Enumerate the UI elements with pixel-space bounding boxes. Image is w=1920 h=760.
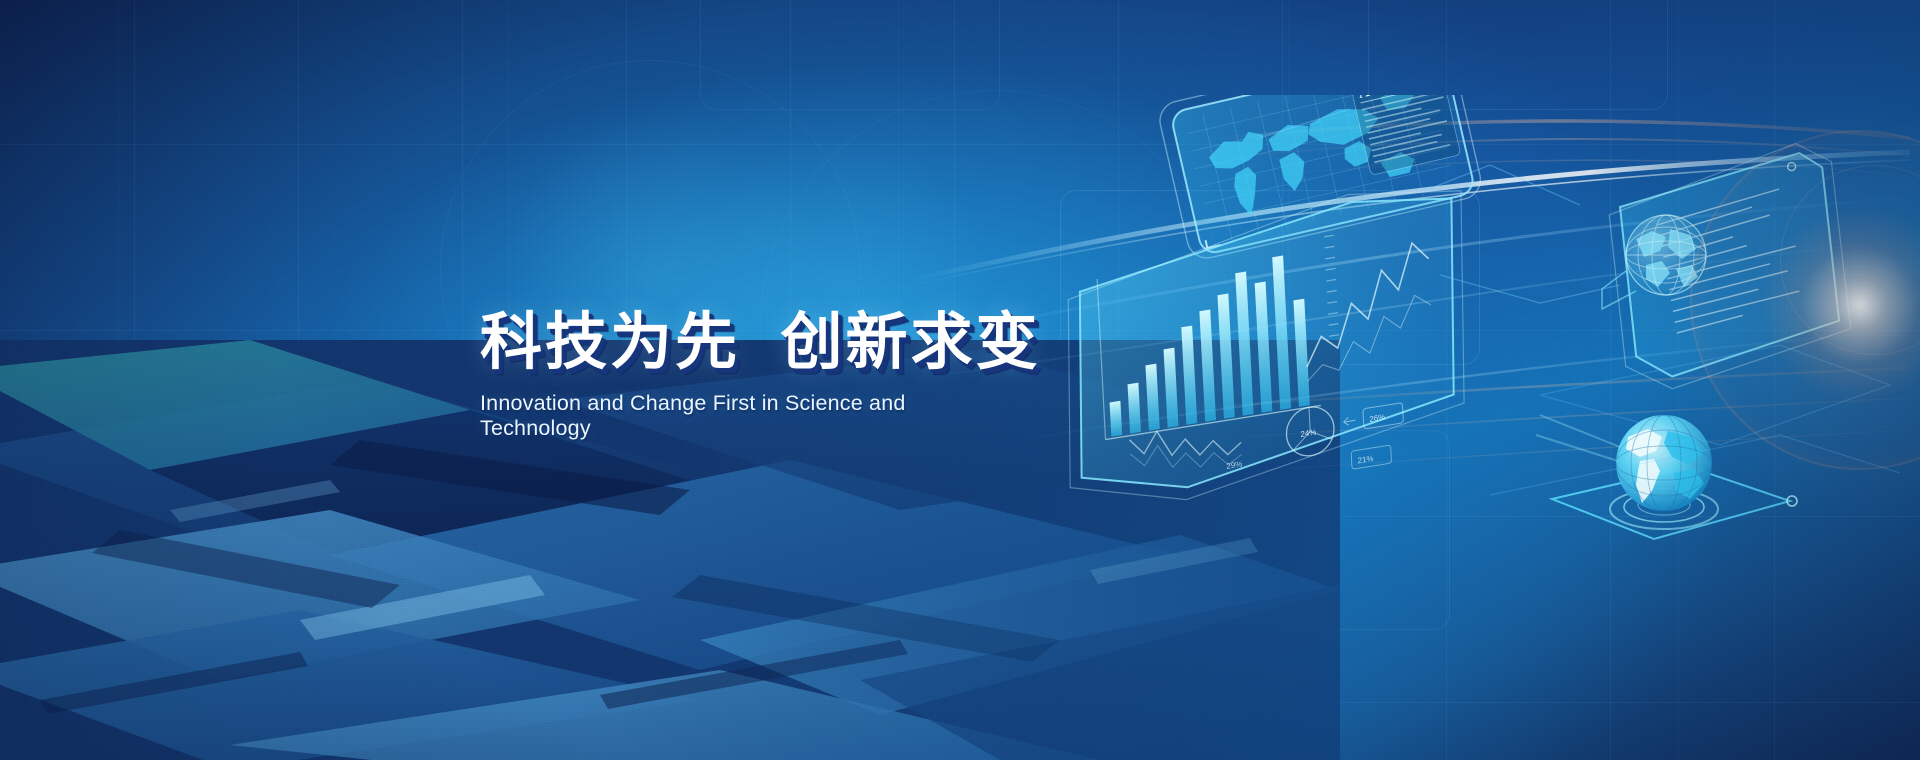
world-map-panel-icon: ASIA	[1156, 95, 1484, 262]
svg-text:ASIA: ASIA	[1357, 95, 1400, 102]
decorative-rounded-rect	[1060, 190, 1480, 365]
solid-globe-icon	[1536, 415, 1797, 539]
asia-label-readout: ASIA	[1350, 95, 1461, 175]
wireframe-globe-icon	[1602, 215, 1706, 309]
page-subtitle: Innovation and Change First in Science a…	[480, 391, 1000, 441]
hero-banner: ASIA	[0, 0, 1920, 760]
lens-flare-ring-icon	[1780, 165, 1920, 355]
text-readout-panel-icon	[1593, 138, 1866, 396]
page-title: 科技为先 创新求变	[480, 310, 1000, 377]
svg-text:21%: 21%	[1357, 454, 1373, 466]
lens-flare-icon	[1640, 90, 1920, 530]
hero-text-block: 科技为先 创新求变 Innovation and Change First in…	[480, 310, 1000, 441]
lens-flare-ring-icon	[1690, 130, 1920, 470]
lens-flare-core-icon	[1760, 205, 1920, 405]
decorative-rounded-rect	[700, 0, 1000, 110]
decorative-rounded-rect	[1368, 0, 1668, 110]
svg-text:26%: 26%	[1369, 413, 1385, 425]
